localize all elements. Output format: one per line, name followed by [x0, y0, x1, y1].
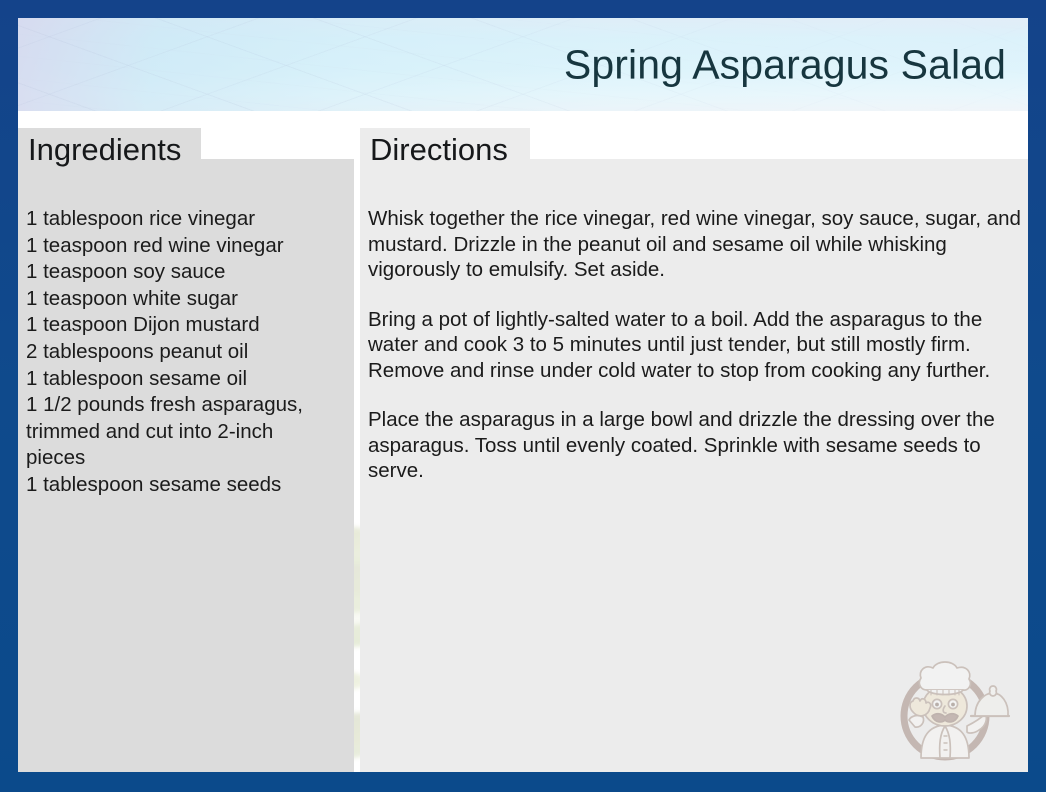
direction-step: Bring a pot of lightly-salted water to a…	[368, 307, 1023, 384]
direction-step: Place the asparagus in a large bowl and …	[368, 407, 1023, 484]
ingredients-heading: Ingredients	[28, 134, 181, 165]
list-item: 1 tablespoon sesame seeds	[26, 472, 356, 499]
header-banner: Spring Asparagus Salad	[18, 18, 1028, 111]
ingredients-list: 1 tablespoon rice vinegar 1 teaspoon red…	[26, 206, 356, 499]
list-item: 1 tablespoon rice vinegar	[26, 206, 356, 233]
list-item: 1 teaspoon red wine vinegar	[26, 233, 356, 260]
list-item: pieces	[26, 445, 356, 472]
list-item: 1 teaspoon Dijon mustard	[26, 312, 356, 339]
directions-heading-tab: Directions	[360, 128, 530, 171]
list-item: trimmed and cut into 2-inch	[26, 419, 356, 446]
list-item: 1 teaspoon white sugar	[26, 286, 356, 313]
list-item: 1 1/2 pounds fresh asparagus,	[26, 392, 356, 419]
recipe-card: Spring Asparagus Salad	[0, 0, 1046, 792]
recipe-page: Spring Asparagus Salad	[18, 18, 1028, 772]
directions-steps: Whisk together the rice vinegar, red win…	[368, 206, 1023, 484]
list-item: 2 tablespoons peanut oil	[26, 339, 356, 366]
directions-heading: Directions	[370, 134, 508, 165]
page-title: Spring Asparagus Salad	[564, 41, 1006, 88]
ingredients-heading-tab: Ingredients	[18, 128, 201, 171]
list-item: 1 teaspoon soy sauce	[26, 259, 356, 286]
list-item: 1 tablespoon sesame oil	[26, 366, 356, 393]
direction-step: Whisk together the rice vinegar, red win…	[368, 206, 1023, 283]
